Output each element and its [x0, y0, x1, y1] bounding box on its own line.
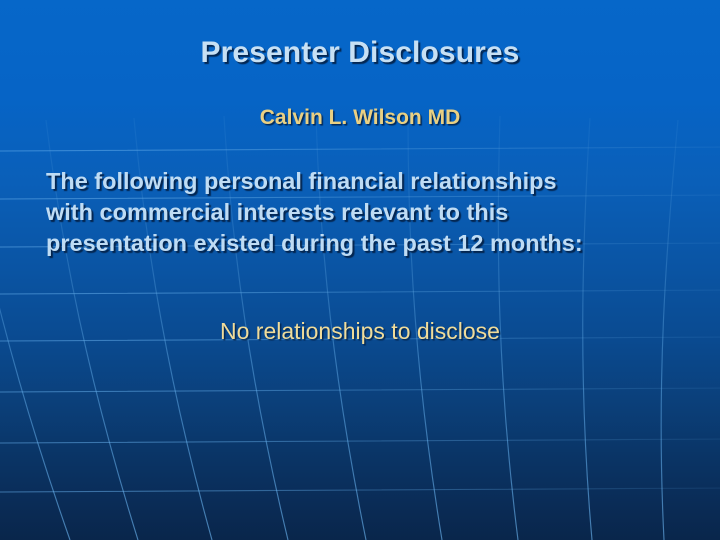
disclosure-statement: The following personal financial relatio… — [46, 166, 696, 259]
slide-content: Presenter Disclosures Calvin L. Wilson M… — [0, 0, 720, 540]
page-title: Presenter Disclosures — [0, 36, 720, 70]
disclosure-status: No relationships to disclose — [0, 318, 720, 345]
disclosure-statement-line-2: with commercial interests relevant to th… — [46, 197, 696, 228]
disclosure-statement-line-3: presentation existed during the past 12 … — [46, 228, 696, 259]
presenter-name: Calvin L. Wilson MD — [0, 106, 720, 130]
disclosure-statement-line-1: The following personal financial relatio… — [46, 166, 696, 197]
presentation-slide: Presenter Disclosures Calvin L. Wilson M… — [0, 0, 720, 540]
